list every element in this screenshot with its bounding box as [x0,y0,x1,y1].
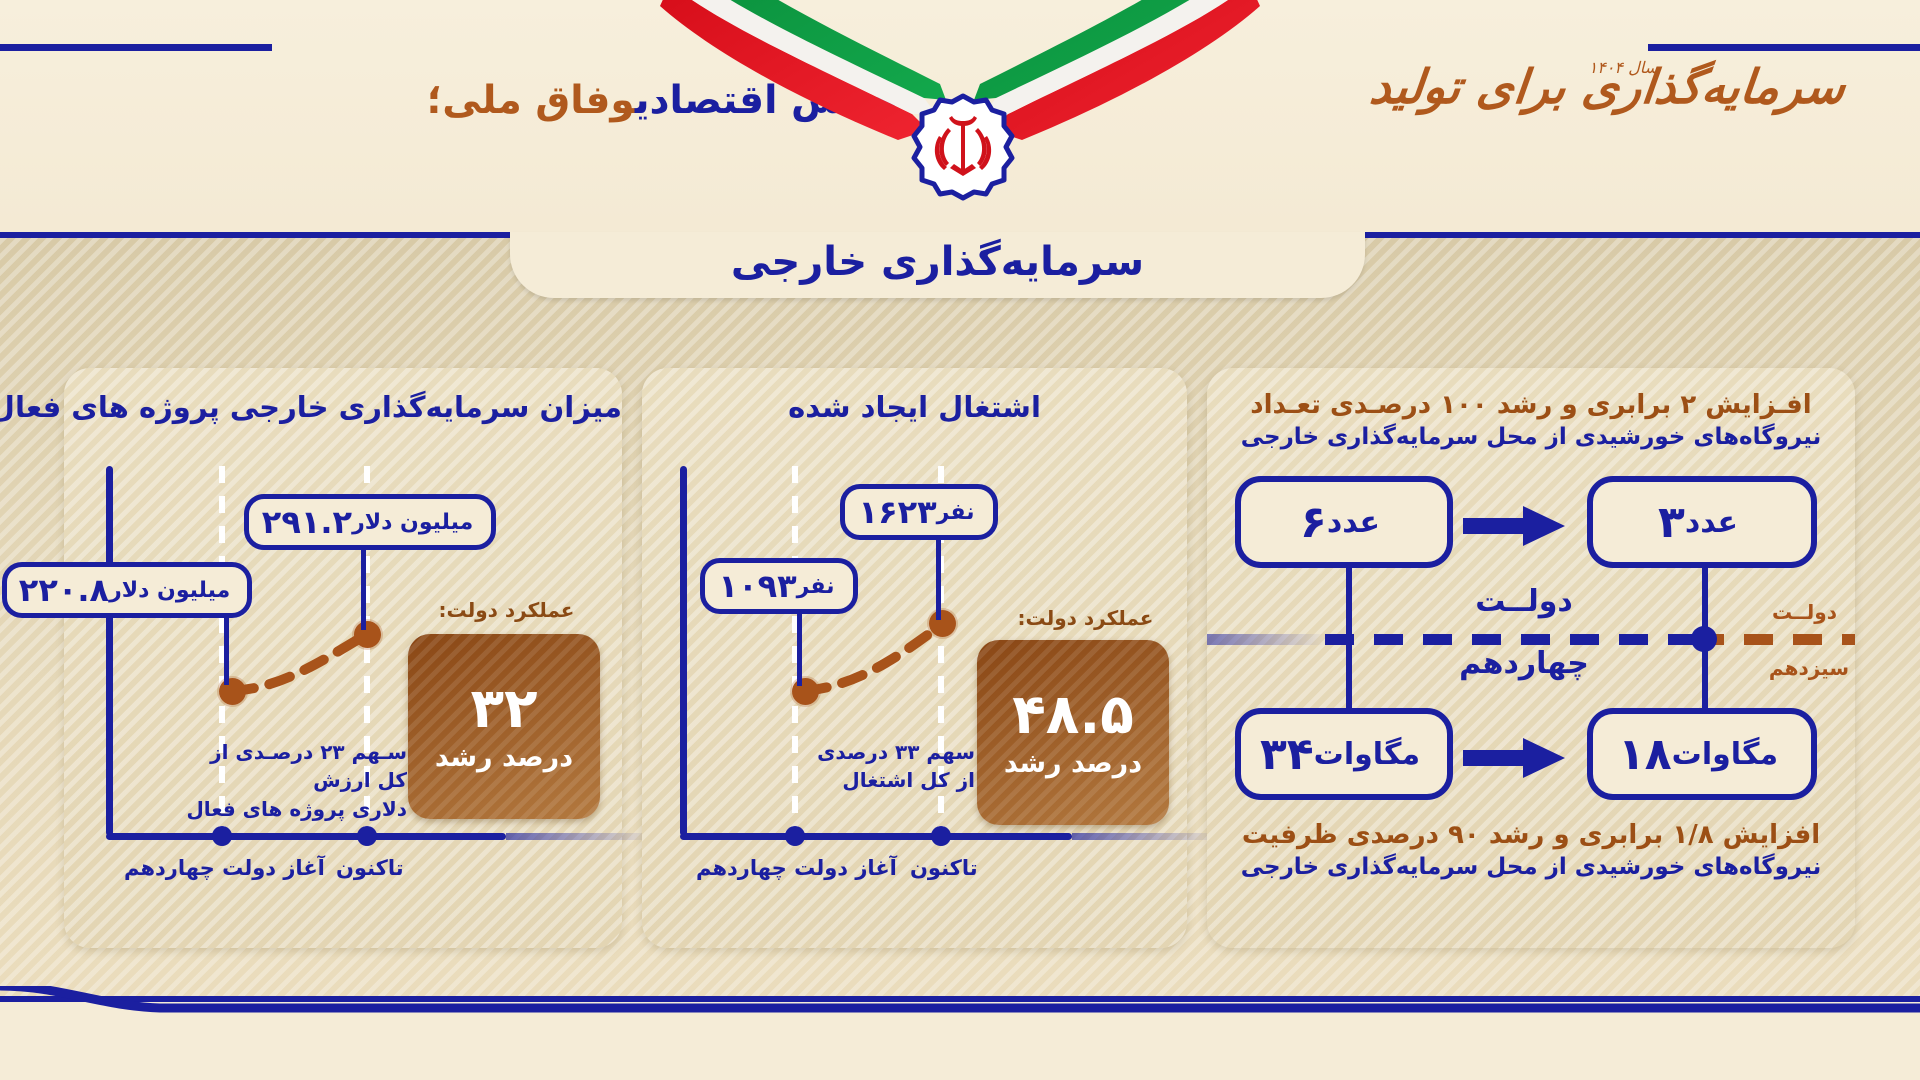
right-stem-top-after [1346,568,1352,640]
right-capacity-before-unit: مگاوات [1672,737,1778,772]
middle-growth-number: ۴۸.۵ [1012,687,1134,742]
header-rule-left [0,44,272,51]
middle-axis-dot-start [785,826,805,846]
left-leader-end [361,548,366,630]
left-bubble-start-number: ۲۲۰.۸ [19,571,109,609]
right-foot: افزایش ۱/۸ برابری و رشد ۹۰ درصدی ظرفیت ن… [1231,820,1831,880]
left-axis-label-end: تاکنون [336,856,404,880]
middle-gov-performance-label: عملکرد دولت: [1018,606,1154,630]
bottom-curve-accent [0,986,1920,1014]
card-left-title: میزان سرمایه‌گذاری خارجی پروژه های فعال [64,390,622,424]
brand-mark: سرمایه‌گذاری برای تولید سال ۱۴۰۴ [1370,62,1890,172]
right-count-after-unit: عدد [1327,505,1380,540]
left-bubble-end-number: ۲۹۱.۲ [262,503,352,541]
middle-growth-label: درصد رشد [1004,748,1142,779]
middle-share-note: سهم ۳۳ درصدی از کل اشتغال [795,738,975,795]
middle-leader-start [797,610,802,686]
left-bubble-end-value: میلیون دلار ۲۹۱.۲ [244,494,496,550]
left-y-axis [106,466,113,836]
right-head-line2: نیروگاه‌های خورشیدی از محل سرمایه‌گذاری … [1231,424,1831,450]
right-divider-fade [1207,634,1327,645]
right-capacity-before-number: ۱۸ [1618,729,1672,780]
right-gov-center-line2: چهاردهم [1409,646,1639,681]
middle-axis-label-start: آغاز دولت چهاردهم [696,856,897,880]
chart-left: آغاز دولت چهاردهم تاکنون میلیون دلار ۲۲۰… [64,438,622,948]
middle-x-axis [680,833,1072,840]
page-title: سرمایه‌گذاری خارجی [510,232,1365,298]
left-x-axis [106,833,506,840]
page-title-text: سرمایه‌گذاری خارجی [731,239,1144,285]
card-middle-title: اشتغال ایجاد شده [642,390,1187,424]
right-count-after: عدد ۶ [1235,476,1453,568]
right-foot-line2: نیروگاه‌های خورشیدی از محل سرمایه‌گذاری … [1231,854,1831,880]
right-divider-brown [1695,634,1855,645]
middle-leader-end [936,538,941,620]
right-foot-line1: افزایش ۱/۸ برابری و رشد ۹۰ درصدی ظرفیت [1231,820,1831,850]
right-divider-blue [1325,634,1705,645]
middle-axis-dot-end [931,826,951,846]
left-axis-label-start: آغاز دولت چهاردهم [124,856,325,880]
card-employment-created: اشتغال ایجاد شده آغاز دولت چهاردهم تاکنو… [642,368,1187,948]
right-arrow-icon-top [1463,506,1565,550]
left-gov-performance-label: عملکرد دولت: [439,598,575,622]
left-axis-dot-start [212,826,232,846]
infographic-root: جهش اقتصادیوفاق ملی؛ سرمایه‌گذاری برای ت… [0,0,1920,1080]
right-gov-center-line1: دولــت [1409,584,1639,619]
left-datapoint-end [354,621,381,648]
left-bubble-start-value: میلیون دلار ۲۲۰.۸ [2,562,252,618]
right-capacity-after: مگاوات ۳۴ [1235,708,1453,800]
left-bubble-end-unit: میلیون دلار [352,510,473,535]
left-axis-dot-end [357,826,377,846]
left-growth-number: ۳۲ [470,681,537,736]
middle-bubble-end-number: ۱۶۲۳ [859,493,937,531]
right-arrow-icon-bottom [1463,738,1565,782]
left-share-note: سـهم ۲۳ درصـدی از کل ارزش دلاری پروژه ها… [177,738,407,823]
middle-y-axis [680,466,687,836]
right-gov-small-bottom: سیزدهم [1769,656,1849,680]
iran-emblem-icon [908,92,1018,202]
right-capacity-before: مگاوات ۱۸ [1587,708,1817,800]
right-capacity-after-number: ۳۴ [1260,729,1314,780]
middle-bubble-start-unit: نفر [797,574,835,599]
right-count-after-number: ۶ [1300,497,1327,548]
middle-bubble-end-value: نفر ۱۶۲۳ [840,484,998,540]
middle-bubble-start-value: نفر ۱۰۹۳ [700,558,858,614]
right-count-before-unit: عدد [1685,505,1738,540]
card-solar-powerplants: افـزایش ۲ برابری و رشد ۱۰۰ درصـدی تعـداد… [1207,368,1855,948]
header-rule-right [1648,44,1920,51]
middle-axis-label-end: تاکنون [910,856,978,880]
right-head-line1: افـزایش ۲ برابری و رشد ۱۰۰ درصـدی تعـداد [1231,390,1831,420]
middle-datapoint-end [929,610,956,637]
right-capacity-after-unit: مگاوات [1314,737,1420,772]
left-growth-tile: ۳۲ درصد رشد [408,634,600,819]
middle-bubble-end-unit: نفر [937,500,975,525]
left-growth-label: درصد رشد [435,742,573,773]
left-bubble-start-unit: میلیون دلار [109,578,230,603]
right-head: افـزایش ۲ برابری و رشد ۱۰۰ درصـدی تعـداد… [1231,390,1831,450]
right-gov-small-top: دولــت [1772,600,1837,624]
chart-middle: آغاز دولت چهاردهم تاکنون نفر ۱۰۹۳ نفر ۱۶… [642,438,1187,948]
middle-growth-tile: ۴۸.۵ درصد رشد [977,640,1169,825]
right-count-before-number: ۳ [1658,497,1685,548]
brand-year-text: سال ۱۴۰۴ [1589,58,1658,77]
tagline-orange-text: وفاق ملی؛ [427,78,635,123]
right-stem-bottom-after [1346,640,1352,710]
middle-bubble-start-number: ۱۰۹۳ [719,567,797,605]
card-foreign-investment-amount: میزان سرمایه‌گذاری خارجی پروژه های فعال … [64,368,622,948]
right-count-before: عدد ۳ [1587,476,1817,568]
left-leader-start [224,613,229,685]
right-stem-bottom-before [1702,640,1708,710]
